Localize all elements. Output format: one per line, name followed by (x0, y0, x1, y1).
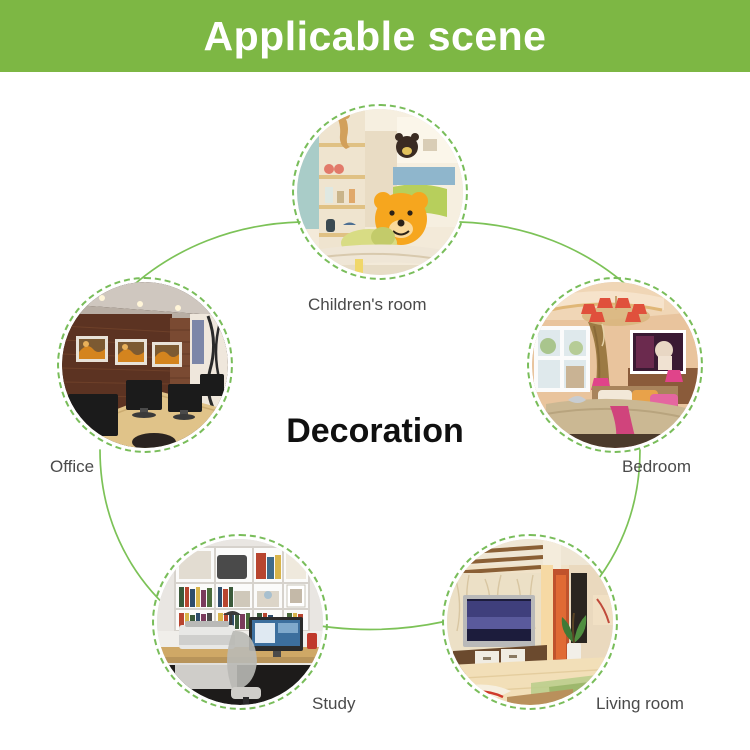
diagram-stage: Children's room (0, 72, 750, 750)
scene-node-living[interactable] (442, 534, 618, 710)
scene-label-bedroom: Bedroom (622, 457, 691, 477)
scene-ring-living (442, 534, 618, 710)
center-title: Decoration (0, 412, 750, 451)
scene-node-study[interactable] (152, 534, 328, 710)
header-banner: Applicable scene (0, 0, 750, 72)
scene-label-study: Study (312, 694, 355, 714)
page-title: Applicable scene (204, 16, 547, 57)
scene-label-living: Living room (596, 694, 684, 714)
scene-node-children[interactable] (292, 104, 468, 280)
scene-ring-children (292, 104, 468, 280)
scene-label-office: Office (50, 457, 94, 477)
scene-ring-study (152, 534, 328, 710)
scene-label-children: Children's room (308, 295, 427, 315)
applicable-scene-infographic: Applicable scene (0, 0, 750, 750)
